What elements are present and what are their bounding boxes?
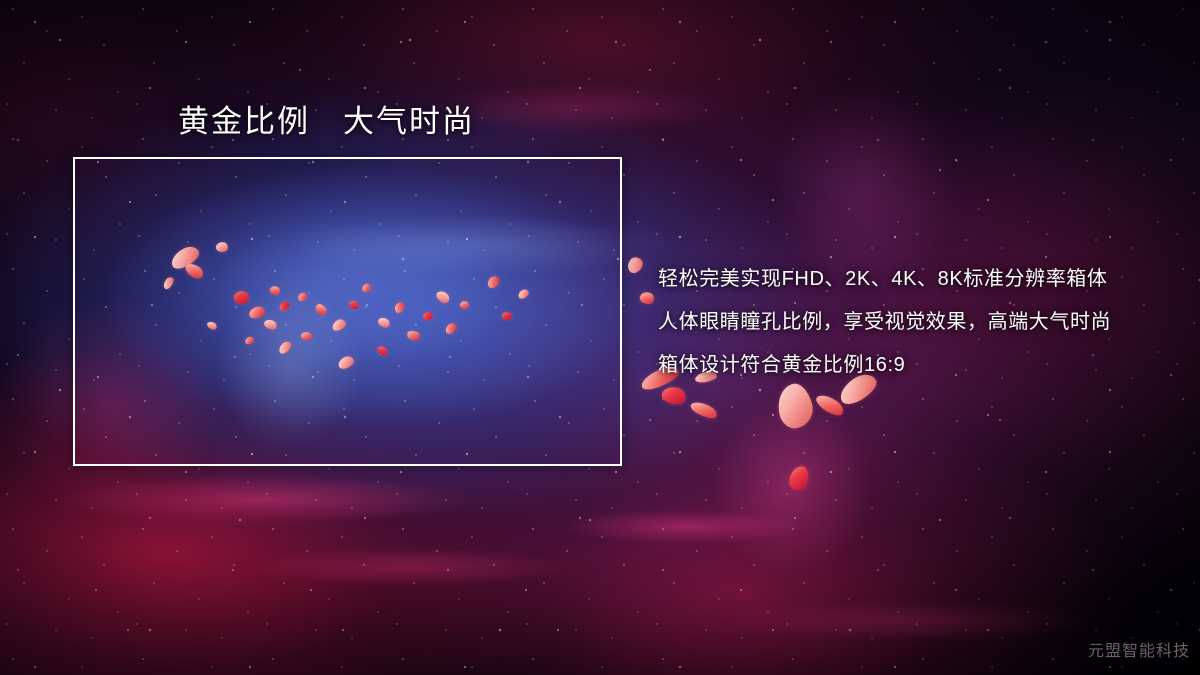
- body-line-3: 箱体设计符合黄金比例16:9: [658, 344, 1178, 387]
- framed-photo-starfield-mid: [75, 159, 620, 464]
- framed-photo-inner: [75, 159, 620, 464]
- page-title: 黄金比例 大气时尚: [178, 102, 475, 142]
- framed-photo: [73, 157, 622, 466]
- body-line-1: 轻松完美实现FHD、2K、4K、8K标准分辨率箱体: [658, 258, 1178, 301]
- body-copy: 轻松完美实现FHD、2K、4K、8K标准分辨率箱体 人体眼睛瞳孔比例，享受视觉效…: [658, 258, 1178, 387]
- slide-canvas: 黄金比例 大气时尚 轻松完美实现FHD、2K、4K、8K标准分辨率箱体 人体眼睛…: [0, 0, 1200, 675]
- body-line-2: 人体眼睛瞳孔比例，享受视觉效果，高端大气时尚: [658, 301, 1178, 344]
- watermark: 元盟智能科技: [1088, 637, 1190, 661]
